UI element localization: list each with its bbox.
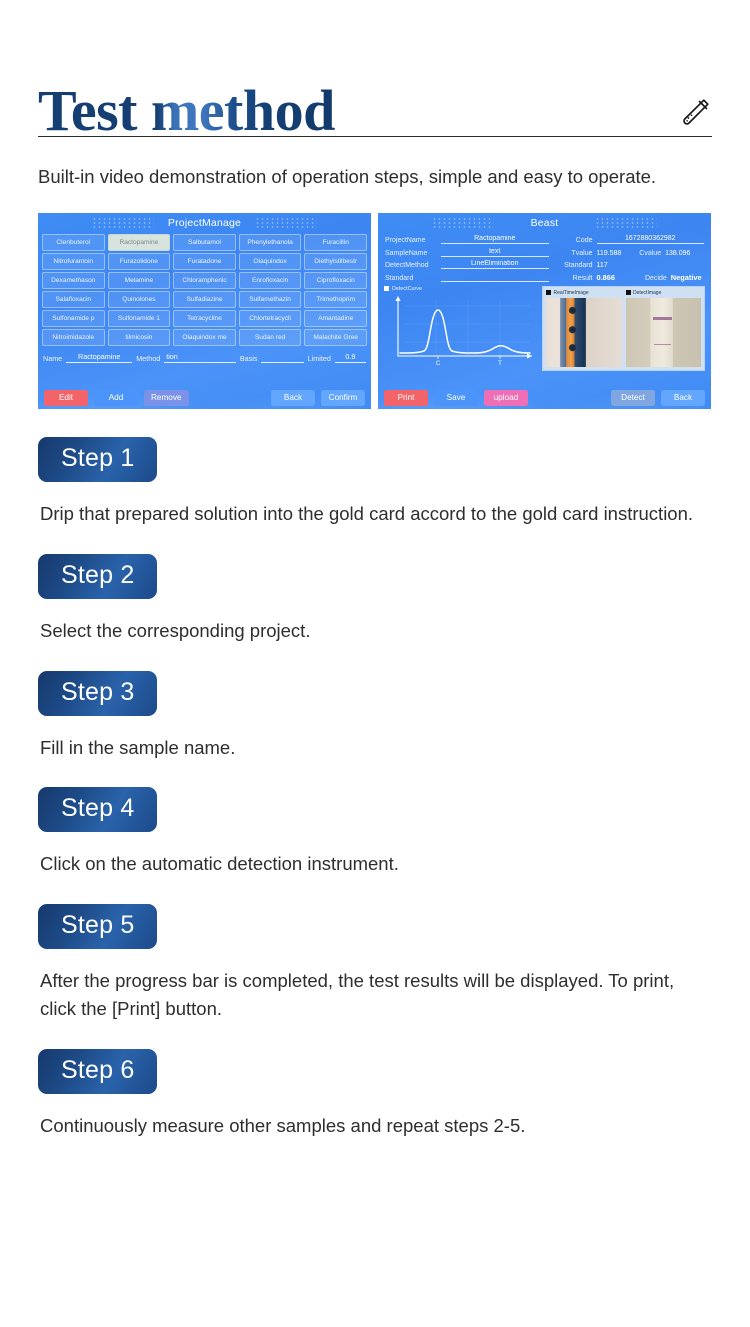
standard-label: Standard xyxy=(385,275,437,282)
step-block: Step 6 Continuously measure other sample… xyxy=(38,1049,712,1140)
print-button[interactable]: Print xyxy=(384,390,428,406)
intro-paragraph: Built-in video demonstration of operatio… xyxy=(38,163,688,191)
project-cell[interactable]: Quinolones xyxy=(108,291,171,308)
beast-info-grid: ProjectName Ractopamine Code 16728803629… xyxy=(378,233,711,282)
dot-pattern-left-icon xyxy=(432,217,494,228)
project-cell[interactable]: Sulfamethazin xyxy=(239,291,302,308)
step-text: Drip that prepared solution into the gol… xyxy=(40,500,700,528)
detect-image-photo xyxy=(626,298,702,367)
step-text: Fill in the sample name. xyxy=(40,734,700,762)
add-button[interactable]: Add xyxy=(94,390,138,406)
curve-tick-c: C xyxy=(436,361,441,367)
dot-pattern-right-icon xyxy=(595,217,657,228)
result-value: 0.866 xyxy=(597,273,616,282)
beast-lower-panel: DetectCurve xyxy=(378,286,711,378)
page-root: Test method Built-in video demonstration… xyxy=(0,0,750,1327)
project-cell[interactable]: Tetracycline xyxy=(173,310,236,327)
project-form-row: Name Ractopamine Method tion Basis Limit… xyxy=(43,352,366,363)
step-badge: Step 2 xyxy=(38,554,157,599)
page-header: Test method xyxy=(38,0,712,110)
screenshot-beast-detect[interactable]: Beast ProjectName Ractopamine Code 16728… xyxy=(378,213,711,409)
basis-label: Basis xyxy=(240,354,258,363)
detect-curve-chart: DetectCurve xyxy=(384,286,536,374)
decide-label: Decide xyxy=(645,275,667,282)
beast-titlebar: Beast xyxy=(378,213,711,233)
project-cell[interactable]: Clenbuterol xyxy=(42,234,105,251)
step-block: Step 4 Click on the automatic detection … xyxy=(38,787,712,878)
name-input[interactable]: Ractopamine xyxy=(66,352,132,363)
detect-method-label: DetectMethod xyxy=(385,262,437,269)
standard-result-label: Standard xyxy=(553,262,593,269)
project-cell-selected[interactable]: Ractopamine xyxy=(108,234,171,251)
project-name-label: ProjectName xyxy=(385,237,437,244)
result-label: Result xyxy=(553,275,593,282)
project-cell[interactable]: Ciprofloxacin xyxy=(304,272,367,289)
project-name-value[interactable]: Ractopamine xyxy=(441,235,549,244)
project-cell[interactable]: Olaquindox xyxy=(239,253,302,270)
step-badge: Step 5 xyxy=(38,904,157,949)
step-block: Step 5 After the progress bar is complet… xyxy=(38,904,712,1023)
project-cell[interactable]: Enrofloxacin xyxy=(239,272,302,289)
project-cell[interactable]: Furatadone xyxy=(173,253,236,270)
sample-name-value[interactable]: text xyxy=(441,248,549,257)
beast-button-bar: Print Save upload Detect Back xyxy=(378,390,711,406)
remove-button[interactable]: Remove xyxy=(144,390,189,406)
image-preview-panel: RealTimeImage DetectImage xyxy=(542,286,705,371)
decide-value: Negative xyxy=(671,273,702,282)
step-text: Select the corresponding project. xyxy=(40,617,700,645)
step-block: Step 1 Drip that prepared solution into … xyxy=(38,437,712,528)
basis-input[interactable] xyxy=(261,361,303,363)
step-badge: Step 6 xyxy=(38,1049,157,1094)
project-cell[interactable]: Diethylstilbestr xyxy=(304,253,367,270)
screenshot-gallery: ProjectManage Clenbuterol Ractopamine Sa… xyxy=(38,213,712,409)
project-cell[interactable]: Nitroimidazole xyxy=(42,329,105,346)
save-button[interactable]: Save xyxy=(434,390,478,406)
edit-button[interactable]: Edit xyxy=(44,390,88,406)
project-cell[interactable]: Sulfonamide p xyxy=(42,310,105,327)
project-cell[interactable]: Furazolidone xyxy=(108,253,171,270)
screenshot-project-manage[interactable]: ProjectManage Clenbuterol Ractopamine Sa… xyxy=(38,213,371,409)
step-badge: Step 4 xyxy=(38,787,157,832)
standard-result-value: 117 xyxy=(597,262,705,269)
project-cell[interactable]: Olaquindox me xyxy=(173,329,236,346)
test-tube-icon xyxy=(678,96,712,130)
dot-pattern-left-icon xyxy=(92,217,154,228)
realtime-image-body xyxy=(546,298,622,367)
cvalue-value: 138.096 xyxy=(665,250,690,257)
cvalue-label: Cvalue xyxy=(639,250,661,257)
curve-tick-t: T xyxy=(498,361,502,367)
project-manage-title: ProjectManage xyxy=(168,217,241,229)
code-value: 1672880362982 xyxy=(597,235,705,244)
tvalue-value: 119.588 xyxy=(597,250,622,257)
confirm-button[interactable]: Confirm xyxy=(321,390,365,406)
realtime-image-header: RealTimeImage xyxy=(546,290,622,296)
upload-button[interactable]: upload xyxy=(484,390,528,406)
project-cell[interactable]: Furacillin xyxy=(304,234,367,251)
project-cell[interactable]: Melamine xyxy=(108,272,171,289)
project-cell[interactable]: Salbutamol xyxy=(173,234,236,251)
name-label: Name xyxy=(43,354,62,363)
project-cell[interactable]: Phenylethanola xyxy=(239,234,302,251)
steps-list: Step 1 Drip that prepared solution into … xyxy=(38,437,712,1139)
project-cell[interactable]: Malachite Gree xyxy=(304,329,367,346)
sample-name-label: SampleName xyxy=(385,250,437,257)
beast-title: Beast xyxy=(531,217,559,229)
standard-value[interactable] xyxy=(441,280,549,282)
limited-label: Limited xyxy=(308,354,331,363)
project-cell[interactable]: Dexamethason xyxy=(42,272,105,289)
step-text: After the progress bar is completed, the… xyxy=(40,967,700,1023)
page-title: Test method xyxy=(38,82,335,140)
method-label: Method xyxy=(136,354,160,363)
project-manage-button-bar: Edit Add Remove Back Confirm xyxy=(38,390,371,406)
detect-curve-legend-label: DetectCurve xyxy=(392,286,422,292)
project-cell[interactable]: Chlortetracycli xyxy=(239,310,302,327)
curve-svg: C T xyxy=(384,292,536,368)
detect-image-header: DetectImage xyxy=(626,290,702,296)
project-cell[interactable]: tilmicosin xyxy=(108,329,171,346)
realtime-image-label: RealTimeImage xyxy=(554,290,589,296)
project-grid: Clenbuterol Ractopamine Salbutamol Pheny… xyxy=(38,233,371,346)
detect-swatch-icon xyxy=(626,290,631,295)
project-cell[interactable]: Trimethoprim xyxy=(304,291,367,308)
method-input[interactable]: tion xyxy=(164,352,236,363)
limited-input[interactable]: 0.9 xyxy=(335,352,366,363)
back-button[interactable]: Back xyxy=(661,390,705,406)
project-cell[interactable]: Amantadine xyxy=(304,310,367,327)
detect-image-label: DetectImage xyxy=(633,290,661,296)
dot-pattern-right-icon xyxy=(255,217,317,228)
legend-swatch-icon xyxy=(384,286,389,291)
project-cell[interactable]: Sulfadiazine xyxy=(173,291,236,308)
project-cell[interactable]: Sulfonamide 1 xyxy=(108,310,171,327)
step-text: Click on the automatic detection instrum… xyxy=(40,850,700,878)
back-button[interactable]: Back xyxy=(271,390,315,406)
realtime-image-photo xyxy=(546,298,622,367)
step-badge: Step 1 xyxy=(38,437,157,482)
project-cell[interactable]: Salafloxacin xyxy=(42,291,105,308)
step-badge: Step 3 xyxy=(38,671,157,716)
realtime-swatch-icon xyxy=(546,290,551,295)
project-manage-titlebar: ProjectManage xyxy=(38,213,371,233)
code-label: Code xyxy=(553,237,593,244)
detect-image-cell: DetectImage xyxy=(626,290,702,367)
detect-method-value[interactable]: LineElimination xyxy=(441,260,549,269)
realtime-image-cell: RealTimeImage xyxy=(546,290,622,367)
tvalue-label: Tvalue xyxy=(553,250,593,257)
project-cell[interactable]: Chloramphenic xyxy=(173,272,236,289)
step-block: Step 2 Select the corresponding project. xyxy=(38,554,712,645)
result-decide-group: 0.866 Decide Negative xyxy=(597,273,705,282)
step-block: Step 3 Fill in the sample name. xyxy=(38,671,712,762)
project-cell[interactable]: Sudan red xyxy=(239,329,302,346)
tvalue-cvalue-group: 119.588 Cvalue 138.096 xyxy=(597,250,705,257)
detect-image-body xyxy=(626,298,702,367)
project-cell[interactable]: Nitrofurantoin xyxy=(42,253,105,270)
detect-button[interactable]: Detect xyxy=(611,390,655,406)
step-text: Continuously measure other samples and r… xyxy=(40,1112,700,1140)
